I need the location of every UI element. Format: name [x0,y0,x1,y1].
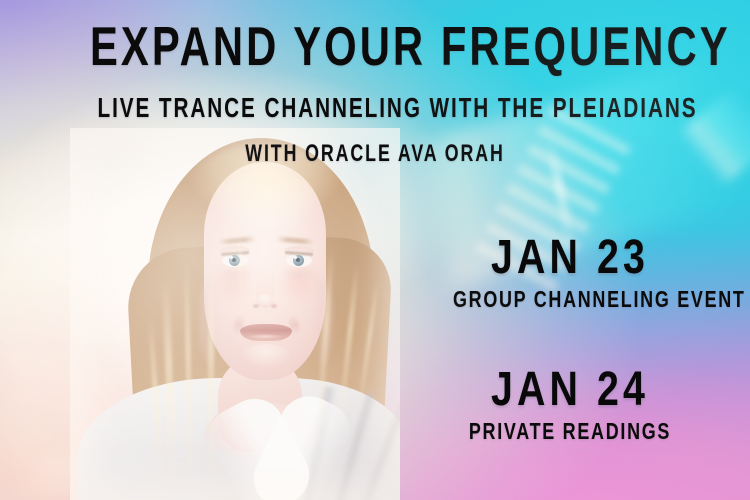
poster-canvas: EXPAND YOUR FREQUENCY LIVE TRANCE CHANNE… [0,0,750,500]
event-description: PRIVATE READINGS [453,418,687,444]
event-entry-1: JAN 23 GROUP CHANNELING EVENT [420,232,720,312]
presenter-credit: WITH ORACLE AVA ORAH [98,141,653,167]
event-description: GROUP CHANNELING EVENT [453,286,687,312]
event-date: JAN 24 [447,364,693,416]
event-entry-2: JAN 24 PRIVATE READINGS [420,364,720,444]
page-title: EXPAND YOUR FREQUENCY [90,18,660,74]
subtitle: LIVE TRANCE CHANNELING WITH THE PLEIADIA… [98,93,653,123]
presenter-portrait [70,128,400,500]
portrait-edge-feather [70,128,400,500]
event-date: JAN 23 [447,232,693,284]
